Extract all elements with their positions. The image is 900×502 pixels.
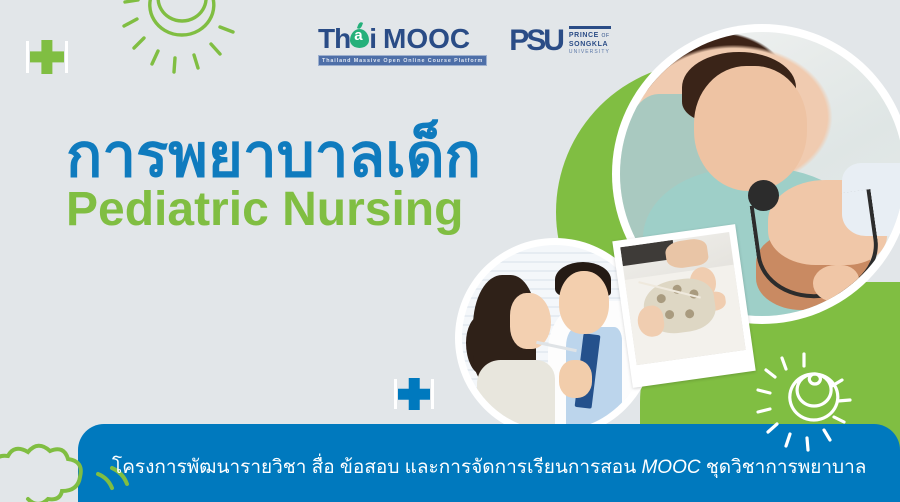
psu-line-songkla: SONGKLA <box>569 41 611 49</box>
psu-line-university: UNIVERSITY <box>569 50 611 56</box>
psu-rule <box>569 26 611 29</box>
thai-mooc-wordmark: Th i MOOC <box>318 24 470 53</box>
plus-top-left-icon <box>30 40 64 74</box>
psu-logo[interactable]: PSU PRINCE OF SONGKLA UNIVERSITY <box>509 24 611 56</box>
course-title-english: Pediatric Nursing <box>66 185 481 235</box>
thai-mooc-i: i <box>369 25 376 53</box>
thai-mooc-logo[interactable]: Th i MOOC Thailand Massive Open Online C… <box>318 24 487 66</box>
headline-block: การพยาบาลเด็ก Pediatric Nursing <box>66 124 481 235</box>
thai-mooc-th: Th <box>318 25 350 53</box>
course-title-thai: การพยาบาลเด็ก <box>66 124 481 187</box>
psu-line-prince: PRINCE OF <box>569 32 611 40</box>
sun-spiral-top-left-icon <box>108 0 236 82</box>
thai-mooc-mooc: MOOC <box>383 25 470 53</box>
thai-mooc-tagline: Thailand Massive Open Online Course Plat… <box>318 55 487 66</box>
psu-mark: PSU <box>509 26 562 56</box>
banner-caption-after: ชุดวิชาการพยาบาล <box>701 457 867 478</box>
psu-wordmark: PRINCE OF SONGKLA UNIVERSITY <box>569 26 611 56</box>
banner-caption: โครงการพัฒนารายวิชา สื่อ ข้อสอบ และการจั… <box>112 452 872 482</box>
logo-bar: Th i MOOC Thailand Massive Open Online C… <box>318 24 611 66</box>
sun-spiral-bottom-right-icon <box>752 352 856 456</box>
banner-canvas: Th i MOOC Thailand Massive Open Online C… <box>0 0 900 502</box>
banner-caption-mooc: MOOC <box>641 457 700 478</box>
thai-mooc-leaf-icon <box>350 24 369 48</box>
plus-center-icon <box>398 378 430 410</box>
banner-caption-before: โครงการพัฒนารายวิชา สื่อ ข้อสอบ และการจั… <box>112 457 641 478</box>
photo-newborn-on-exam-table <box>612 224 755 388</box>
